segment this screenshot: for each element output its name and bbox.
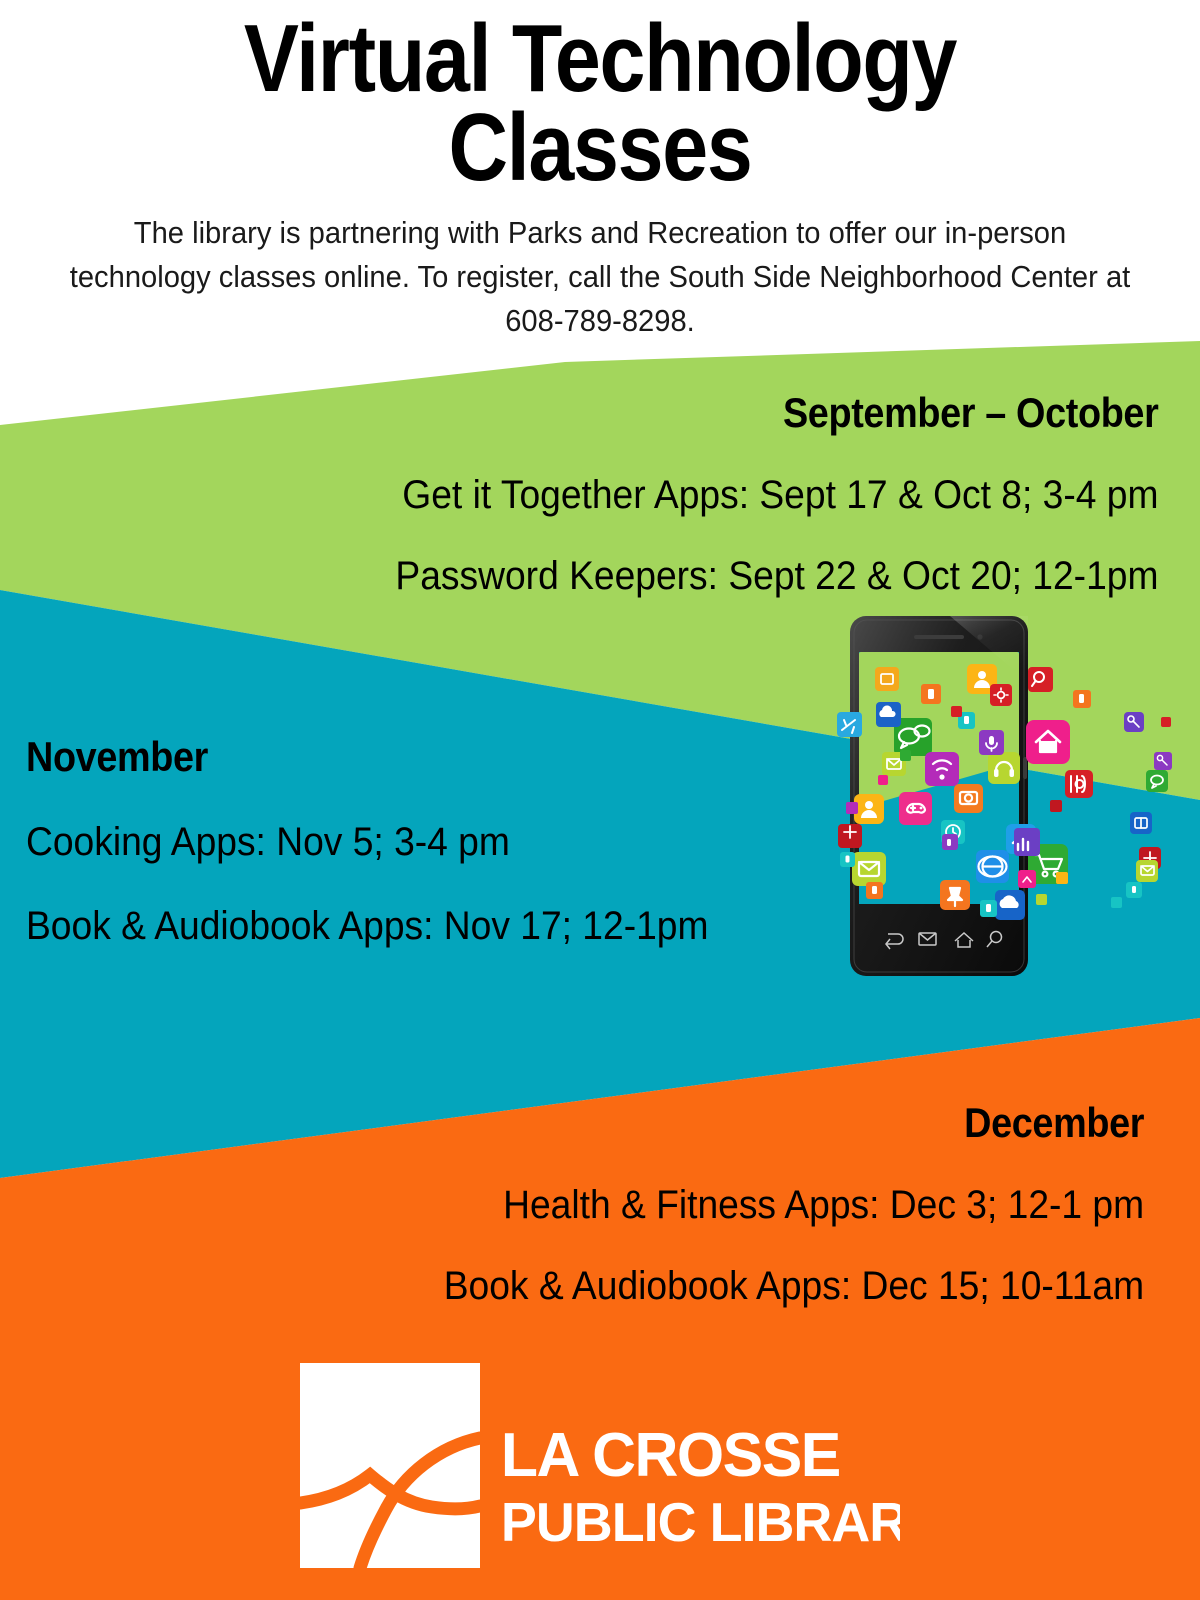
bar-chart-icon: [1014, 828, 1040, 856]
home-icon: [1026, 720, 1070, 764]
class-listing: Cooking Apps: Nov 5; 3-4 pm: [26, 822, 708, 862]
key-icon: [1124, 712, 1144, 732]
photo-icon: [1018, 870, 1036, 888]
class-listing: Health & Fitness Apps: Dec 3; 12-1 pm: [444, 1185, 1144, 1225]
wifi-icon: [925, 752, 959, 786]
accent-square: [951, 706, 962, 717]
globe-icon: [976, 850, 1009, 883]
section-november: November Cooking Apps: Nov 5; 3-4 pm Boo…: [26, 736, 760, 946]
pushpin-icon: [940, 880, 970, 910]
tablet-with-apps-illustration: [830, 612, 1190, 1002]
gamepad-icon: [899, 792, 932, 825]
battery-icon: [980, 900, 997, 917]
person-icon: [854, 794, 884, 824]
accent-square: [1036, 894, 1047, 905]
accent-square: [1111, 897, 1122, 908]
camera-icon: [954, 784, 983, 813]
battery-icon: [1126, 882, 1142, 898]
battery-icon: [942, 834, 958, 850]
battery-icon: [921, 684, 941, 704]
class-listing: Password Keepers: Sept 22 & Oct 20; 12-1…: [395, 556, 1158, 596]
page-title: Virtual Technology Classes: [84, 0, 1116, 193]
battery-icon: [1073, 690, 1091, 708]
accent-square: [1050, 800, 1062, 812]
class-listing: Get it Together Apps: Sept 17 & Oct 8; 3…: [395, 475, 1158, 515]
restaurant-icon: [1065, 770, 1093, 798]
window-icon: [1130, 812, 1152, 834]
cloud-icon: [995, 890, 1025, 920]
poster-subtitle: The library is partnering with Parks and…: [36, 193, 1164, 343]
logo-line-1: LA CROSSE: [501, 1420, 840, 1490]
la-crosse-public-library-logo: LA CROSSE PUBLIC LIBRARY: [300, 1363, 900, 1568]
poster-root: Virtual Technology Classes The library i…: [0, 0, 1200, 1600]
search-icon: [1028, 667, 1053, 692]
key-icon: [1154, 752, 1172, 770]
battery-icon: [866, 882, 883, 899]
battery-icon: [840, 852, 855, 867]
class-listing: Book & Audiobook Apps: Dec 15; 10-11am: [444, 1266, 1144, 1306]
logo-line-2: PUBLIC LIBRARY: [501, 1492, 900, 1554]
envelope-icon: [852, 852, 886, 886]
envelope-icon: [1136, 860, 1158, 882]
message-icon: [1146, 770, 1168, 792]
accent-square: [846, 802, 858, 814]
tablet-side-button[interactable]: [1023, 757, 1027, 779]
accent-square: [1056, 872, 1068, 884]
section-september-october: September – October Get it Together Apps…: [338, 392, 1158, 596]
calculator-icon: [838, 824, 862, 848]
photo-icon: [875, 667, 899, 691]
accent-square: [1161, 717, 1171, 727]
accent-square: [900, 750, 911, 761]
section-december: December Health & Fitness Apps: Dec 3; 1…: [391, 1102, 1144, 1306]
airplane-icon: [837, 712, 862, 737]
class-listing: Book & Audiobook Apps: Nov 17; 12-1pm: [26, 906, 708, 946]
section-heading-september-october: September – October: [420, 392, 1158, 434]
accent-square: [878, 775, 888, 785]
cloud-icon: [876, 702, 901, 727]
la-crosse-river-bluff-mark: [300, 1363, 480, 1568]
tablet-speaker: [914, 635, 964, 639]
poster-header: Virtual Technology Classes The library i…: [0, 0, 1200, 343]
settings-icon: [990, 684, 1012, 706]
section-heading-december: December: [466, 1102, 1144, 1144]
section-heading-november: November: [26, 736, 686, 778]
headphones-icon: [988, 752, 1020, 784]
microphone-icon: [979, 730, 1004, 755]
